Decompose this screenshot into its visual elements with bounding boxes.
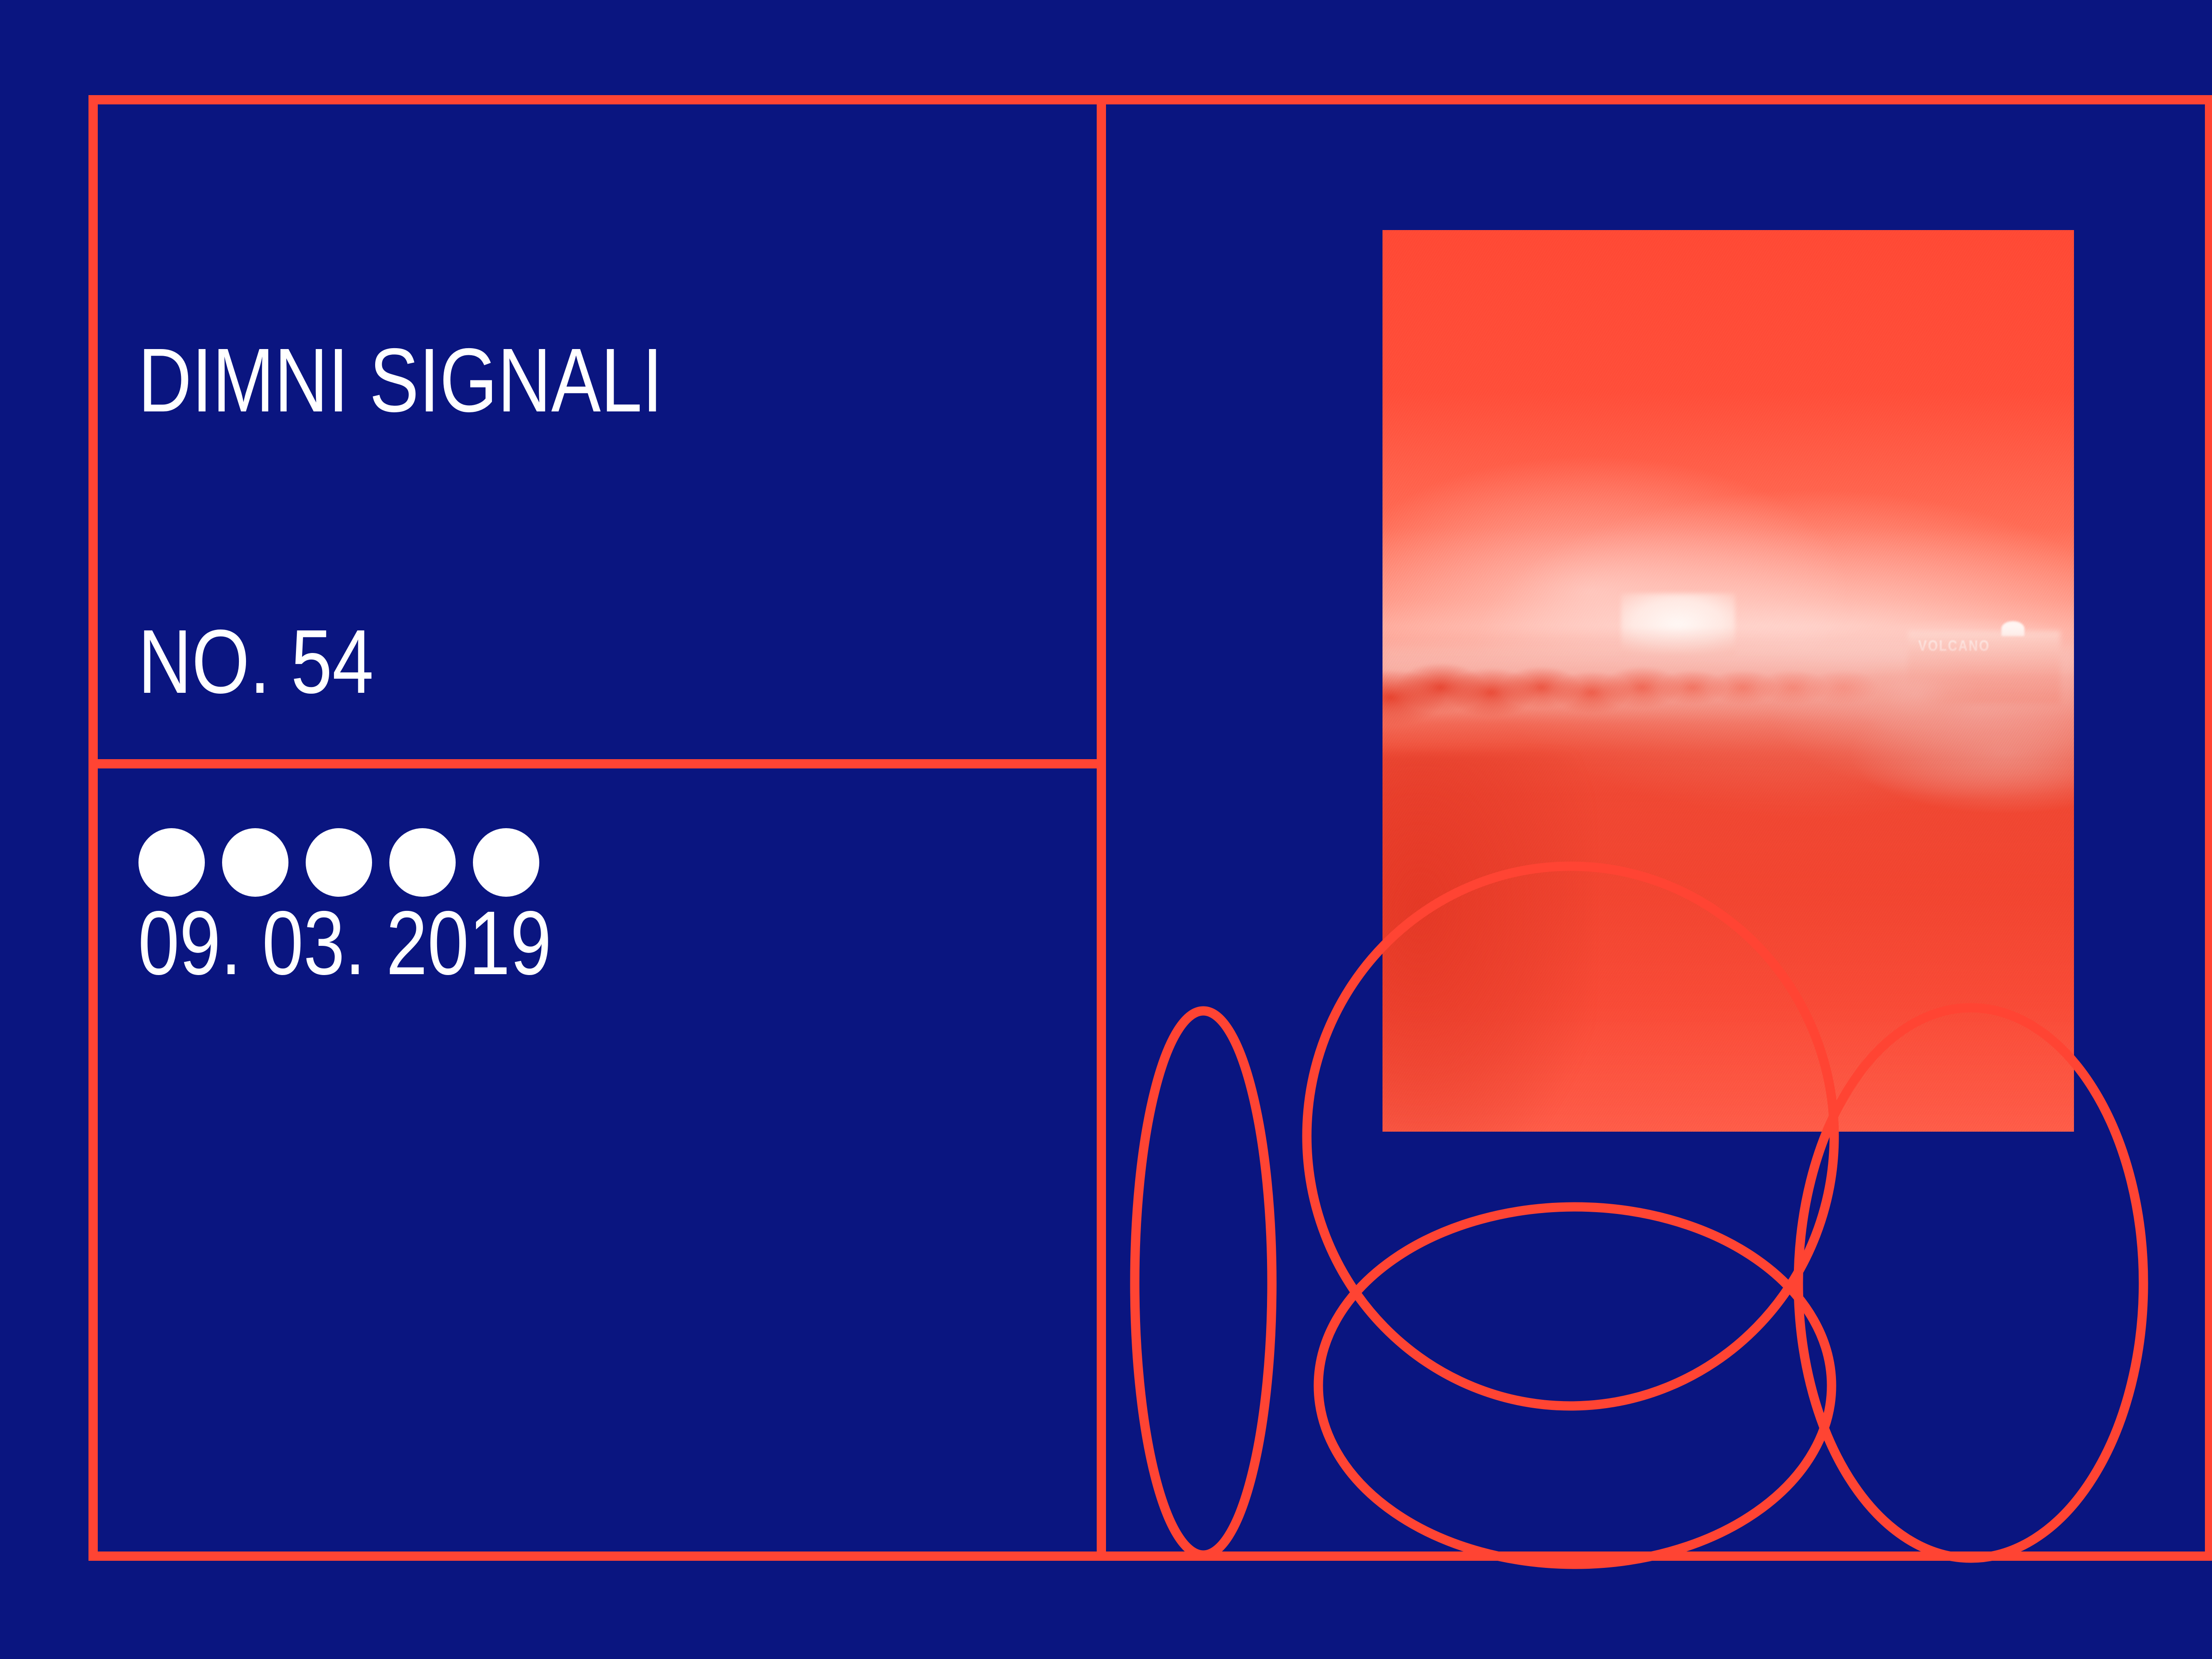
photograph: VOLCANO: [1382, 230, 2074, 1132]
frame-right-rule: [2205, 95, 2212, 1561]
photo-film-grain: [1382, 230, 2074, 1132]
ellipse-left-tall: [1135, 1011, 1272, 1555]
dot-5: [473, 828, 539, 897]
headline-date: 09. 03. 2019: [138, 896, 864, 990]
dot-3: [306, 828, 372, 897]
dot-1: [138, 828, 205, 897]
poster-canvas: DIMNI SIGNALI NO. 54 09. 03. 2019 VOLCAN…: [0, 0, 2212, 1659]
headline-title: DIMNI SIGNALI: [138, 334, 864, 427]
dot-2: [222, 828, 288, 897]
ellipse-bottom-large: [1318, 1207, 1832, 1564]
dot-4: [389, 828, 456, 897]
frame-top-rule: [88, 95, 2212, 104]
panel-divider-vertical: [1097, 95, 1106, 1561]
frame-bottom-rule: [88, 1551, 2212, 1561]
headline-block: DIMNI SIGNALI NO. 54 09. 03. 2019: [138, 146, 864, 1178]
dot-row: [138, 828, 539, 897]
frame-left-rule: [88, 95, 98, 1561]
headline-number: NO. 54: [138, 615, 864, 709]
